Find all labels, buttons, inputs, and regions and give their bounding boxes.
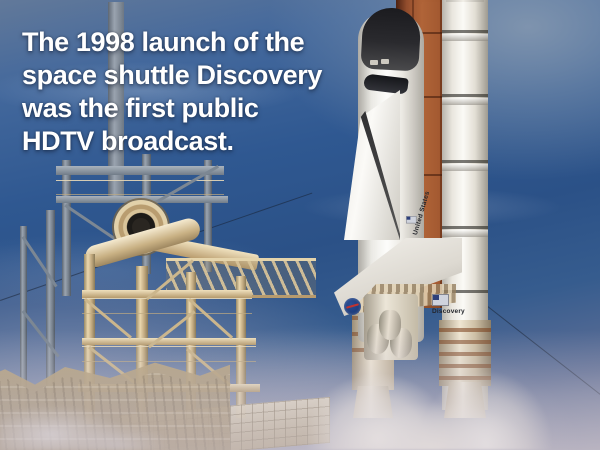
bottom-haze xyxy=(0,330,600,450)
us-flag-icon xyxy=(432,294,449,306)
caption-line-4: HDTV broadcast. xyxy=(22,125,392,158)
srb-nose-cone xyxy=(446,0,484,2)
caption-line-1: The 1998 launch of the xyxy=(22,26,392,59)
screenshot-root: Discovery United States xyxy=(0,0,600,450)
orbiter-name-marking: Discovery xyxy=(432,308,465,315)
caption-text: The 1998 launch of the space shuttle Dis… xyxy=(22,26,392,158)
caption-line-2: space shuttle Discovery xyxy=(22,59,392,92)
nasa-meatball-insignia xyxy=(344,298,361,315)
caption-line-3: was the first public xyxy=(22,92,392,125)
